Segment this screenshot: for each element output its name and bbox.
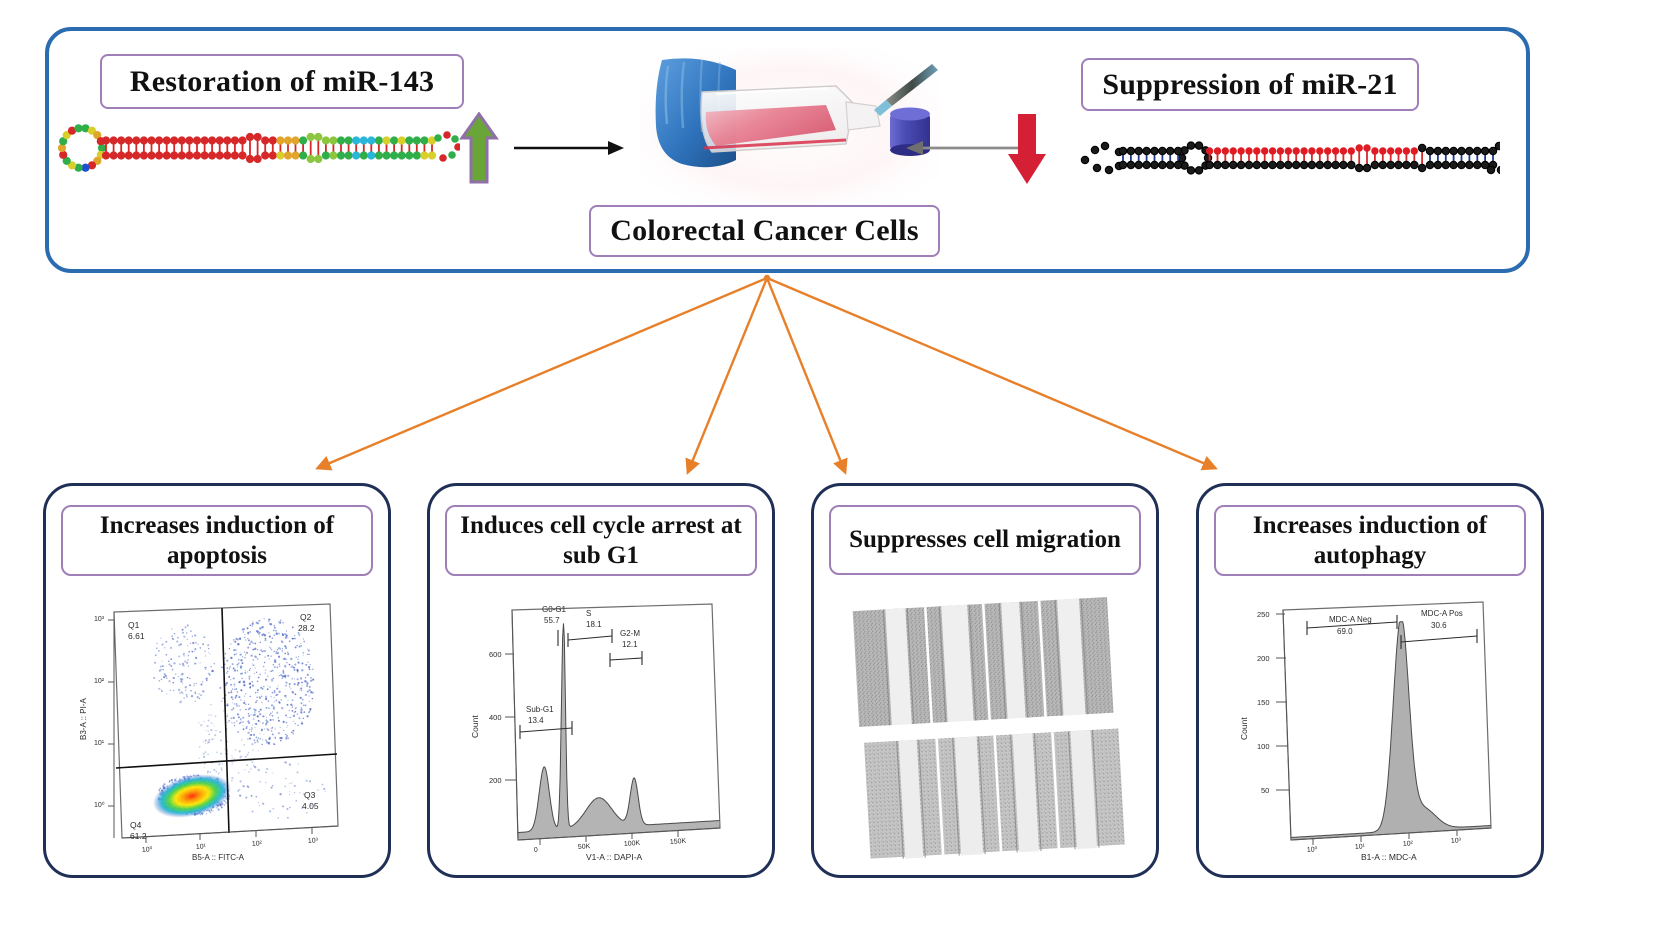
cellcycle-histogram-figure: 600 400 200 Count 0 50K 100K 150K V1-A :… [456, 590, 746, 862]
svg-text:10²: 10² [252, 840, 263, 848]
rna-hairpin-black-red-icon [1075, 120, 1500, 192]
svg-text:MDC-A Pos: MDC-A Pos [1421, 609, 1463, 618]
svg-text:10⁰: 10⁰ [94, 801, 105, 809]
svg-text:10⁰: 10⁰ [1307, 845, 1318, 854]
autophagy-x-axis-label: B1-A :: MDC-A [1361, 852, 1417, 862]
autophagy-y-axis-label: Count [1239, 717, 1249, 740]
svg-text:30.6: 30.6 [1431, 621, 1447, 630]
autophagy-histogram-figure: 250 200 150 100 50 Count 10⁰ 10¹ 10² 10³ [1225, 590, 1515, 862]
svg-text:Q4: Q4 [130, 820, 142, 830]
svg-text:G0-G1: G0-G1 [542, 605, 567, 614]
svg-text:12.1: 12.1 [622, 640, 638, 649]
flow-cytometry-dotplot-figure: 10³ 10² 10¹ 10⁰ 10⁰ 10¹ 10² 10³ Q1 6.61 … [72, 590, 362, 862]
cell-culture-flask-photo [640, 48, 940, 208]
cellcycle-y-axis-label: Count [470, 715, 480, 738]
svg-text:13.4: 13.4 [528, 716, 544, 725]
svg-text:61.2: 61.2 [130, 831, 147, 841]
svg-text:0: 0 [534, 847, 538, 854]
svg-text:Q1: Q1 [128, 620, 140, 630]
svg-text:55.7: 55.7 [544, 616, 560, 625]
svg-text:10¹: 10¹ [94, 740, 105, 747]
svg-text:100K: 100K [624, 840, 641, 848]
red-down-arrow-icon [1005, 112, 1049, 186]
outcome-label-autophagy: Increases induction of autophagy [1214, 505, 1526, 576]
svg-text:10¹: 10¹ [1355, 843, 1366, 851]
wound-healing-assay-montage [840, 590, 1130, 862]
outcome-label-cell-cycle: Induces cell cycle arrest at sub G1 [445, 505, 757, 576]
figure-canvas: Restoration of miR-143 [0, 0, 1659, 933]
svg-text:50: 50 [1261, 786, 1269, 795]
outcome-panel-cell-cycle: Induces cell cycle arrest at sub G1 600 … [427, 483, 775, 878]
svg-text:200: 200 [1257, 654, 1270, 663]
dotplot-x-axis-label: B5-A :: FITC-A [192, 853, 245, 862]
svg-text:28.2: 28.2 [298, 623, 315, 633]
fan-arrow-4 [767, 278, 1215, 468]
svg-text:10¹: 10¹ [196, 843, 207, 851]
svg-text:600: 600 [489, 650, 502, 659]
svg-text:250: 250 [1257, 610, 1270, 619]
label-colorectal-cancer-cells: Colorectal Cancer Cells [589, 205, 940, 257]
svg-text:150: 150 [1257, 698, 1270, 707]
svg-text:10³: 10³ [308, 837, 319, 845]
label-suppression-mir21: Suppression of miR-21 [1081, 58, 1419, 111]
cellcycle-x-axis-label: V1-A :: DAPI-A [586, 852, 643, 862]
outcome-panel-migration: Suppresses cell migration [811, 483, 1159, 878]
svg-text:18.1: 18.1 [586, 620, 602, 629]
fan-arrow-1 [318, 278, 767, 468]
svg-text:100: 100 [1257, 742, 1270, 751]
label-restoration-mir143: Restoration of miR-143 [100, 54, 464, 109]
rna-hairpin-colorful-icon [40, 108, 460, 188]
svg-text:10³: 10³ [94, 616, 105, 623]
svg-text:150K: 150K [670, 838, 687, 846]
svg-text:50K: 50K [578, 843, 591, 851]
svg-text:10⁰: 10⁰ [142, 845, 153, 854]
green-up-arrow-icon [459, 112, 499, 184]
svg-text:Q2: Q2 [300, 612, 312, 622]
svg-text:10³: 10³ [1451, 837, 1462, 845]
svg-text:MDC-A Neg: MDC-A Neg [1329, 615, 1372, 624]
svg-text:4.05: 4.05 [302, 801, 319, 811]
outcome-label-migration: Suppresses cell migration [829, 505, 1141, 575]
svg-text:400: 400 [489, 713, 502, 722]
right-arrow-icon [514, 135, 624, 161]
outcome-panel-apoptosis: Increases induction of apoptosis [43, 483, 391, 878]
svg-text:G2-M: G2-M [620, 629, 640, 638]
svg-text:69.0: 69.0 [1337, 627, 1353, 636]
svg-text:Sub-G1: Sub-G1 [526, 705, 554, 714]
dotplot-y-axis-label: B3-A :: PI-A [79, 698, 88, 740]
svg-text:10²: 10² [1403, 840, 1414, 848]
svg-text:6.61: 6.61 [128, 631, 145, 641]
svg-text:Q3: Q3 [304, 790, 316, 800]
fan-arrows-group [0, 262, 1659, 492]
outcome-panel-autophagy: Increases induction of autophagy 250 200 [1196, 483, 1544, 878]
svg-text:S: S [586, 609, 591, 618]
svg-text:10²: 10² [94, 678, 105, 685]
svg-text:200: 200 [489, 776, 502, 785]
outcome-label-apoptosis: Increases induction of apoptosis [61, 505, 373, 576]
